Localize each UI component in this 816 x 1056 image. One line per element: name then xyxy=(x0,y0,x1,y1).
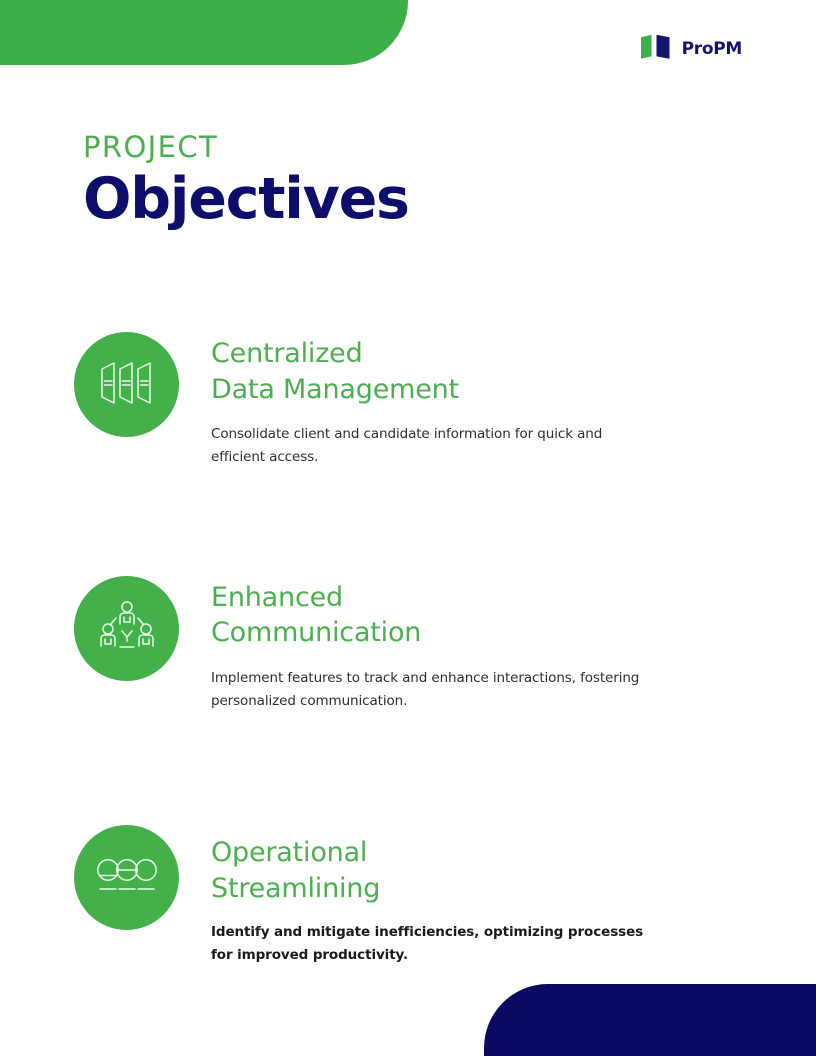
top-left-green-shape xyxy=(0,0,408,65)
objective-text-block: Centralized Data Management Consolidate … xyxy=(179,330,754,470)
page-title-kicker: PROJECT xyxy=(83,132,409,164)
objective-text-block: Enhanced Communication Implement feature… xyxy=(179,574,754,714)
objective-description: Consolidate client and candidate informa… xyxy=(211,423,631,469)
objective-item: Operational Streamlining Identify and mi… xyxy=(74,823,754,967)
page-title: Objectives xyxy=(83,170,409,230)
brand-logo-text: ProPM xyxy=(682,41,742,58)
objective-item: Centralized Data Management Consolidate … xyxy=(74,330,754,470)
brand-logo: ProPM xyxy=(639,34,742,64)
process-circles-icon xyxy=(97,855,157,901)
objective-title-line1: Enhanced xyxy=(211,582,343,613)
objectives-list: Centralized Data Management Consolidate … xyxy=(74,330,754,967)
objective-title: Centralized Data Management xyxy=(211,336,754,407)
objective-title: Operational Streamlining xyxy=(211,835,754,906)
objective-icon-badge xyxy=(74,825,179,930)
objective-icon-badge xyxy=(74,332,179,437)
people-network-icon xyxy=(98,600,156,656)
page-title-block: PROJECT Objectives xyxy=(83,132,409,230)
objective-title-line1: Centralized xyxy=(211,338,363,369)
bottom-right-navy-shape xyxy=(484,984,816,1056)
objective-title: Enhanced Communication xyxy=(211,580,754,651)
two-pages-logo-icon xyxy=(639,34,673,64)
documents-stack-icon xyxy=(99,360,155,410)
objective-description: Implement features to track and enhance … xyxy=(211,667,681,713)
objective-text-block: Operational Streamlining Identify and mi… xyxy=(179,823,754,967)
objective-title-line2: Streamlining xyxy=(211,873,380,904)
objective-icon-badge xyxy=(74,576,179,681)
objective-title-line2: Communication xyxy=(211,617,421,648)
objective-title-line1: Operational xyxy=(211,837,367,868)
objective-title-line2: Data Management xyxy=(211,374,459,405)
objective-description: Identify and mitigate inefficiencies, op… xyxy=(211,921,651,967)
objectives-page: ProPM PROJECT Objectives xyxy=(0,0,816,1056)
objective-item: Enhanced Communication Implement feature… xyxy=(74,574,754,714)
